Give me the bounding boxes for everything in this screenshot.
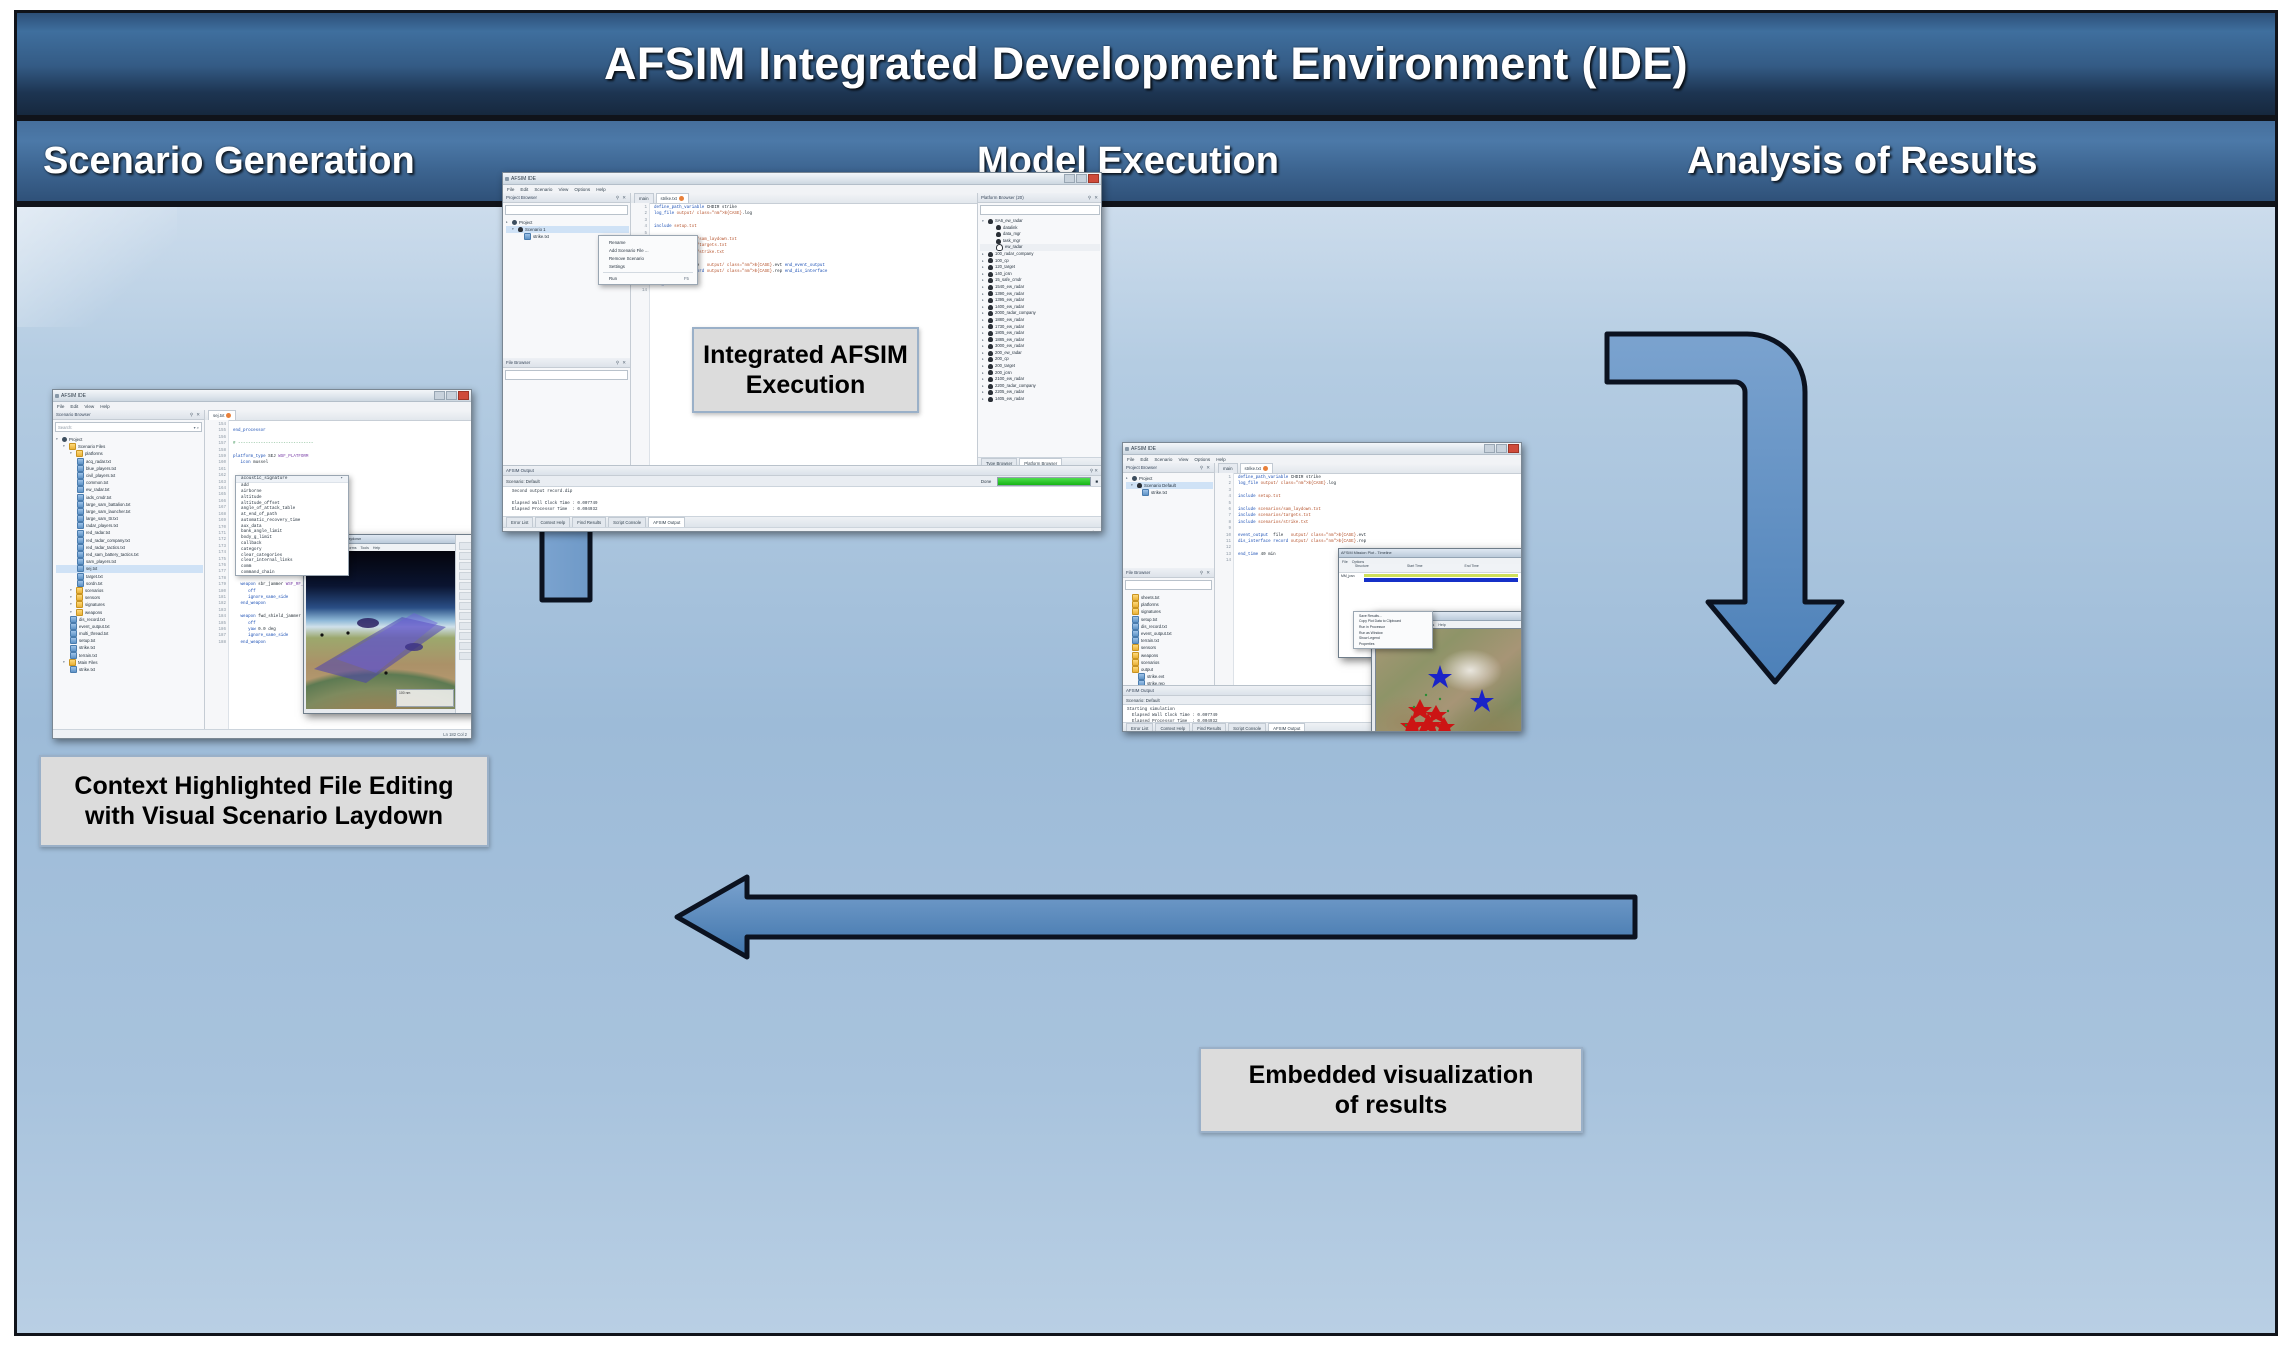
tree-item[interactable]: sordn.txt bbox=[56, 580, 203, 587]
panel-field[interactable] bbox=[459, 562, 472, 570]
panel-field[interactable] bbox=[459, 592, 472, 600]
platform-list-item[interactable]: ▸2200_radar_company bbox=[980, 383, 1100, 390]
window-titlebar[interactable]: AFSIM IDE bbox=[53, 390, 471, 402]
tree-item-scenario[interactable]: ▾ Scenario 1 bbox=[506, 226, 629, 233]
project-browser-header: Project Browser ⚲ ✕ bbox=[503, 193, 630, 203]
page-title: AFSIM Integrated Development Environment… bbox=[604, 38, 1688, 90]
tree-item[interactable]: setup.txt bbox=[56, 637, 203, 644]
dock-title: File Browser bbox=[1126, 570, 1150, 575]
tree-item[interactable]: sam_players.txt bbox=[56, 558, 203, 565]
progress-label: Done bbox=[981, 479, 992, 484]
minimize-button[interactable] bbox=[1484, 444, 1495, 453]
minimize-button[interactable] bbox=[1064, 174, 1075, 183]
platform-label: 2200_radar_company bbox=[995, 383, 1036, 390]
scenario-generation-window[interactable]: AFSIM IDE File Edit View Help Scenario B… bbox=[52, 389, 472, 739]
platform-list-item[interactable]: ▸1400_ew_radar bbox=[980, 304, 1100, 311]
menu-scenario[interactable]: Scenario bbox=[1154, 457, 1172, 462]
tree-item[interactable]: ▾signatures bbox=[56, 601, 203, 608]
tree-item-strike-file[interactable]: strike.txt bbox=[1126, 489, 1213, 496]
ctx-properties[interactable]: Properties bbox=[1354, 641, 1432, 647]
tree-item[interactable]: event_output.txt bbox=[56, 623, 203, 630]
expander-icon[interactable]: ▾ bbox=[56, 436, 60, 443]
menu-file[interactable]: File bbox=[57, 404, 64, 409]
menu-edit[interactable]: Edit bbox=[1140, 457, 1148, 462]
tree-item-label: strike.evt bbox=[1147, 673, 1164, 680]
tree-item-label: Main Files bbox=[78, 659, 98, 666]
panel-field[interactable] bbox=[459, 622, 472, 630]
pin-icon[interactable]: ⚲ ✕ bbox=[1200, 465, 1211, 471]
menu-edit[interactable]: Edit bbox=[70, 404, 78, 409]
tree-item-label: Scenario Default bbox=[1144, 482, 1176, 489]
tree-item[interactable]: strike.evt bbox=[1126, 673, 1213, 680]
close-button[interactable] bbox=[1088, 174, 1099, 183]
context-menu-item-remove-scenario[interactable]: Remove Scenario bbox=[599, 254, 697, 262]
close-button[interactable] bbox=[1508, 444, 1519, 453]
tree-item[interactable]: ew_radar.txt bbox=[56, 486, 203, 493]
line-number: 14 bbox=[631, 288, 647, 294]
platform-list-item[interactable]: ▸100_radar_company bbox=[980, 251, 1100, 258]
callout-embedded-visualization: Embedded visualization of results bbox=[1199, 1047, 1583, 1133]
platform-list-item[interactable]: ▸140_jcsn bbox=[980, 271, 1100, 278]
scenario-icon bbox=[518, 227, 523, 232]
menu-options[interactable]: Options bbox=[1194, 457, 1210, 462]
file-icon bbox=[70, 645, 77, 652]
expander-icon[interactable]: ▸ bbox=[982, 337, 986, 344]
platform-list-item[interactable]: ▸3000_ew_radar bbox=[980, 343, 1100, 350]
platform-icon bbox=[988, 331, 993, 336]
tree-item[interactable]: terrain.txt bbox=[56, 652, 203, 659]
tree-item[interactable]: strike.txt bbox=[56, 644, 203, 651]
tree-item[interactable]: ▾Project bbox=[56, 436, 203, 443]
tree-item[interactable]: setup.txt bbox=[1126, 616, 1213, 623]
expander-icon[interactable]: ▸ bbox=[982, 264, 986, 271]
file-filter-input[interactable] bbox=[1125, 580, 1212, 590]
tree-item[interactable]: sheets.txt bbox=[1126, 594, 1213, 601]
menu-tools[interactable]: Tools bbox=[361, 546, 369, 550]
tree-item-project[interactable]: ▸ Project bbox=[506, 219, 629, 226]
file-icon bbox=[77, 465, 84, 472]
window-titlebar[interactable]: AFSIM IDE bbox=[503, 173, 1101, 185]
platform-list-item[interactable]: ew_radar bbox=[980, 244, 1100, 251]
tree-item-label: acq_radar.txt bbox=[86, 458, 111, 465]
window-buttons[interactable] bbox=[1064, 174, 1099, 183]
project-filter-input[interactable] bbox=[505, 205, 628, 215]
panel-field[interactable] bbox=[459, 612, 472, 620]
expander-icon[interactable]: ▸ bbox=[982, 304, 986, 311]
dock-title: File Browser bbox=[506, 360, 530, 365]
tree-item-label: Scenario Files bbox=[78, 443, 105, 450]
folder-icon bbox=[1132, 644, 1139, 651]
plot-context-menu[interactable]: Save Results... Copy Plot Data to Clipbo… bbox=[1353, 611, 1433, 649]
platform-list-item[interactable]: ▸1730_ew_radar bbox=[980, 324, 1100, 331]
platform-list-item[interactable]: ▸1805_ew_radar bbox=[980, 330, 1100, 337]
scenario-browser-dock: Scenario Browser ⚲ ✕ Search: ▾ ⌕ ▾Projec… bbox=[53, 410, 205, 729]
expander-icon[interactable]: ▸ bbox=[982, 317, 986, 324]
tree-item[interactable]: large_sam_battalion.txt bbox=[56, 501, 203, 508]
file-icon bbox=[77, 494, 84, 501]
menu-view[interactable]: View bbox=[558, 187, 568, 192]
tree-item[interactable]: weapons bbox=[1126, 652, 1213, 659]
tree-item[interactable]: platforms bbox=[1126, 601, 1213, 608]
platform-label: 2205_ew_radar bbox=[995, 389, 1024, 396]
analysis-of-results-window[interactable]: AFSIM IDE File Edit Scenario View Option… bbox=[1122, 442, 1522, 732]
dock-title: Project Browser bbox=[1126, 465, 1157, 470]
menu-scenario[interactable]: Scenario bbox=[534, 187, 552, 192]
file-icon bbox=[1132, 630, 1139, 637]
platform-icon bbox=[988, 258, 993, 263]
tree-item[interactable]: scenarios bbox=[1126, 659, 1213, 666]
output-tabs[interactable]: Error ListContext HelpFind ResultsScript… bbox=[503, 516, 1101, 527]
expander-icon[interactable]: ▸ bbox=[982, 363, 986, 370]
tab-label: main bbox=[639, 196, 649, 201]
output-title: AFSIM Output bbox=[506, 468, 534, 473]
expander-icon[interactable]: ▾ bbox=[70, 587, 74, 594]
file-browser-dock: File Browser ⚲ ✕ sheets.txtplatformssign… bbox=[1123, 568, 1215, 688]
editor-tab-main[interactable]: main bbox=[634, 193, 654, 203]
tree-item-project[interactable]: ▸ Project bbox=[1126, 475, 1213, 482]
tree-item[interactable]: blue_players.txt bbox=[56, 465, 203, 472]
menu-help[interactable]: Help bbox=[596, 187, 605, 192]
chevron-down-icon[interactable]: ▾ bbox=[340, 476, 343, 481]
platform-filter-input[interactable] bbox=[980, 205, 1100, 215]
tree-item[interactable]: ▾platforms bbox=[56, 450, 203, 457]
file-filter-input[interactable] bbox=[505, 370, 628, 380]
tree-item[interactable]: ▾weapons bbox=[56, 609, 203, 616]
output-header: AFSIM Output ⚲ ✕ bbox=[503, 466, 1101, 476]
tree-item[interactable]: target.txt bbox=[56, 573, 203, 580]
tree-item[interactable]: large_sam_ttr.txt bbox=[56, 515, 203, 522]
unsaved-indicator-icon bbox=[679, 196, 684, 201]
tree-item-label: radar_players.txt bbox=[86, 522, 118, 529]
platform-list-item[interactable]: ▸200_target bbox=[980, 363, 1100, 370]
window-titlebar[interactable]: AFSIM IDE bbox=[1123, 443, 1521, 455]
autocomplete-popup[interactable]: acoustic_signature ▾ addairbornealtitude… bbox=[235, 475, 349, 576]
expander-icon[interactable]: ▸ bbox=[982, 277, 986, 284]
panel-field[interactable] bbox=[459, 632, 472, 640]
tree-item-label: strike.txt bbox=[79, 666, 95, 673]
panel-field[interactable] bbox=[459, 542, 472, 550]
autocomplete-item[interactable]: command_chain bbox=[236, 570, 348, 576]
tree-item[interactable]: signatures bbox=[1126, 608, 1213, 615]
platform-label: 120_target bbox=[995, 264, 1015, 271]
platform-list[interactable]: ▾SA6_ew_radardatalinkdata_mgrtask_mgrew_… bbox=[978, 217, 1102, 404]
menu-help[interactable]: Help bbox=[373, 546, 380, 550]
platform-list-item[interactable]: ▸2100_ew_radar bbox=[980, 376, 1100, 383]
expander-icon[interactable]: ▸ bbox=[982, 251, 986, 258]
tree-item-scenario-default[interactable]: ▾ Scenario Default bbox=[1126, 482, 1213, 489]
tree-item[interactable]: acq_radar.txt bbox=[56, 458, 203, 465]
tree-item-label: sensors bbox=[85, 594, 100, 601]
file-icon bbox=[70, 637, 77, 644]
file-icon bbox=[77, 458, 84, 465]
platform-browser-header: Platform Browser (20) ⚲ ✕ bbox=[978, 193, 1102, 203]
plot-titlebar[interactable]: AFSIM Mission Plot - Timeline bbox=[1339, 549, 1522, 558]
platform-icon bbox=[988, 351, 993, 356]
timeline-row-label: MM_jcsn bbox=[1341, 574, 1355, 578]
autocomplete-filter[interactable]: acoustic_signature ▾ bbox=[236, 476, 348, 483]
tree-item[interactable]: ▾scenarios bbox=[56, 587, 203, 594]
editor-tab-main[interactable]: main bbox=[1218, 463, 1238, 473]
expander-icon[interactable]: ▾ bbox=[70, 601, 74, 608]
menu-file[interactable]: File bbox=[1342, 560, 1348, 564]
platform-icon bbox=[988, 272, 993, 277]
tree-item[interactable]: ▾sensors bbox=[56, 594, 203, 601]
tree-item[interactable]: ▾Main Files bbox=[56, 659, 203, 666]
expander-icon[interactable]: ▾ bbox=[1131, 482, 1135, 489]
platform-label: 2000_radar_company bbox=[995, 310, 1036, 317]
stop-icon[interactable]: ■ bbox=[1095, 479, 1098, 484]
output-tab[interactable]: Script Console bbox=[1228, 723, 1266, 732]
viewer-side-panel[interactable] bbox=[455, 535, 472, 713]
file-browser-header: File Browser ⚲ ✕ bbox=[1123, 568, 1214, 578]
menu-help[interactable]: Help bbox=[1216, 457, 1225, 462]
context-menu-item-label: Run bbox=[609, 276, 617, 281]
platform-list-item[interactable]: data_mgr bbox=[980, 231, 1100, 238]
tree-item[interactable]: sej.txt bbox=[56, 565, 203, 572]
tree-item-label: scenarios bbox=[1141, 659, 1159, 666]
expander-icon[interactable]: ▾ bbox=[63, 659, 67, 666]
menu-view[interactable]: View bbox=[1178, 457, 1188, 462]
line-number: 14 bbox=[1215, 558, 1231, 564]
tree-item-label: terrain.txt bbox=[79, 652, 97, 659]
tree-item[interactable]: multi_thread.txt bbox=[56, 630, 203, 637]
panel-field[interactable] bbox=[459, 602, 472, 610]
panel-field[interactable] bbox=[459, 572, 472, 580]
platform-list-item[interactable]: ▾SA6_ew_radar bbox=[980, 218, 1100, 225]
expander-icon[interactable]: ▾ bbox=[512, 226, 516, 233]
platform-list-item[interactable]: ▸15_safe_cmdr bbox=[980, 277, 1100, 284]
expander-icon[interactable]: ▾ bbox=[70, 450, 74, 457]
platform-list-item[interactable]: ▸100_cp bbox=[980, 258, 1100, 265]
menu-file[interactable]: File bbox=[507, 187, 514, 192]
expander-icon[interactable]: ▸ bbox=[982, 291, 986, 298]
output-tab[interactable]: Error List bbox=[1126, 723, 1153, 732]
context-menu-item-settings[interactable]: Settings bbox=[599, 262, 697, 270]
scenario-context-menu[interactable]: Rename Add Scenario File ... Remove Scen… bbox=[598, 235, 698, 285]
tree-item[interactable]: red_radar_tactics.txt bbox=[56, 544, 203, 551]
maximize-button[interactable] bbox=[1496, 444, 1507, 453]
platform-icon bbox=[988, 364, 993, 369]
scenario-search-input[interactable]: Search: ▾ ⌕ bbox=[55, 422, 202, 432]
file-tree[interactable]: sheets.txtplatformssignaturessetup.txtdi… bbox=[1123, 592, 1214, 690]
panel-field[interactable] bbox=[459, 582, 472, 590]
tree-item[interactable]: common.txt bbox=[56, 479, 203, 486]
timeline-row[interactable]: MM_jcsn bbox=[1339, 573, 1522, 587]
output-tab[interactable]: Context Help bbox=[535, 517, 570, 527]
editor-tab-strike[interactable]: strike.txt bbox=[1240, 463, 1273, 473]
tree-item[interactable]: radar_players.txt bbox=[56, 522, 203, 529]
tree-item[interactable]: output bbox=[1126, 666, 1213, 673]
tree-item[interactable]: event_output.txt bbox=[1126, 630, 1213, 637]
tree-item-label: Project bbox=[519, 219, 532, 226]
pin-icon[interactable]: ⚲ ✕ bbox=[1088, 195, 1099, 201]
expander-icon[interactable]: ▸ bbox=[982, 389, 986, 396]
expander-icon[interactable]: ▸ bbox=[982, 271, 986, 278]
platform-label: 1730_ew_radar bbox=[995, 324, 1024, 331]
output-tab[interactable]: Find Results bbox=[1192, 723, 1226, 732]
menu-help[interactable]: Help bbox=[1438, 623, 1445, 627]
expander-icon[interactable]: ▾ bbox=[982, 218, 986, 225]
expander-icon[interactable]: ▸ bbox=[982, 330, 986, 337]
output-scenario-label: Scenario: Default bbox=[1126, 698, 1160, 703]
expander-icon[interactable]: ▸ bbox=[982, 383, 986, 390]
expander-icon[interactable]: ▸ bbox=[506, 219, 510, 226]
platform-icon bbox=[988, 324, 993, 329]
folder-icon bbox=[1132, 659, 1139, 666]
platform-list-item[interactable]: ▸1390_ew_radar bbox=[980, 291, 1100, 298]
tree-item[interactable]: red_radar_company.txt bbox=[56, 537, 203, 544]
unsaved-indicator-icon bbox=[1263, 466, 1268, 471]
platform-list-item[interactable]: datalink bbox=[980, 225, 1100, 232]
folder-icon bbox=[1132, 652, 1139, 659]
output-tab[interactable]: AFSIM Output bbox=[1268, 723, 1305, 732]
tree-item[interactable]: large_sam_launcher.txt bbox=[56, 508, 203, 515]
expander-icon[interactable]: ▸ bbox=[982, 284, 986, 291]
tree-item-label: Project bbox=[1139, 475, 1152, 482]
close-button[interactable] bbox=[458, 391, 469, 400]
expander-icon[interactable]: ▾ bbox=[63, 443, 67, 450]
tree-item[interactable]: red_sam_battery_tactics.txt bbox=[56, 551, 203, 558]
pin-icon[interactable]: ⚲ ✕ bbox=[1090, 468, 1098, 474]
platform-label: 1405_ew_radar bbox=[995, 396, 1024, 403]
expander-icon[interactable]: ▾ bbox=[70, 594, 74, 601]
file-icon bbox=[77, 515, 84, 522]
expander-icon[interactable]: ▸ bbox=[982, 350, 986, 357]
folder-icon bbox=[76, 609, 83, 616]
search-icon[interactable]: ▾ ⌕ bbox=[194, 425, 201, 430]
platform-list-item[interactable]: task_mgr bbox=[980, 238, 1100, 245]
menu-help[interactable]: Help bbox=[100, 404, 109, 409]
expander-icon[interactable]: ▸ bbox=[982, 343, 986, 350]
minimize-button[interactable] bbox=[434, 391, 445, 400]
tree-item[interactable]: ▾Scenario Files bbox=[56, 443, 203, 450]
platform-label: SA6_ew_radar bbox=[995, 218, 1023, 225]
platform-label: 1540_ew_radar bbox=[995, 284, 1024, 291]
context-menu-item-add-scenario-file[interactable]: Add Scenario File ... bbox=[599, 246, 697, 254]
pin-icon[interactable]: ⚲ ✕ bbox=[190, 412, 201, 418]
context-menu-item-rename[interactable]: Rename bbox=[599, 238, 697, 246]
tree-item[interactable]: civil_players.txt bbox=[56, 472, 203, 479]
output-tab[interactable]: Script Console bbox=[608, 517, 646, 527]
output-console[interactable]: Second output record.dip Elapsed Wall Cl… bbox=[503, 487, 1101, 516]
editor-tab-sej[interactable]: sej.txt bbox=[208, 410, 236, 420]
expander-icon[interactable]: ▸ bbox=[982, 258, 986, 265]
platform-label: 15_safe_cmdr bbox=[995, 277, 1022, 284]
platform-list-item[interactable]: ▸1540_ew_radar bbox=[980, 284, 1100, 291]
expander-icon[interactable]: ▸ bbox=[982, 324, 986, 331]
file-icon bbox=[77, 573, 84, 580]
file-icon bbox=[77, 580, 84, 587]
platform-icon bbox=[988, 278, 993, 283]
maximize-button[interactable] bbox=[446, 391, 457, 400]
expander-icon[interactable]: ▾ bbox=[70, 609, 74, 616]
menu-edit[interactable]: Edit bbox=[520, 187, 528, 192]
expander-icon[interactable]: ▸ bbox=[982, 396, 986, 403]
line-number: 188 bbox=[205, 640, 226, 646]
file-icon bbox=[77, 472, 84, 479]
platform-list-item[interactable]: ▸1880_ew_radar bbox=[980, 317, 1100, 324]
editor-tab-strike[interactable]: strike.txt bbox=[656, 193, 689, 203]
platform-label: 100_radar_company bbox=[995, 251, 1033, 258]
expander-icon[interactable]: ▸ bbox=[1126, 475, 1130, 482]
pin-icon[interactable]: ⚲ ✕ bbox=[616, 360, 627, 366]
tree-item[interactable]: dis_record.txt bbox=[1126, 623, 1213, 630]
output-tab[interactable]: Error List bbox=[506, 517, 533, 527]
context-menu-item-run[interactable]: Run F5 bbox=[599, 274, 697, 282]
tree-item[interactable]: iads_cmdr.txt bbox=[56, 494, 203, 501]
tree-item-label: common.txt bbox=[86, 479, 108, 486]
output-tab[interactable]: AFSIM Output bbox=[648, 517, 685, 527]
platform-icon bbox=[988, 252, 993, 257]
menu-file[interactable]: File bbox=[1127, 457, 1134, 462]
tree-item[interactable]: red_radar.txt bbox=[56, 529, 203, 536]
platform-list-item[interactable]: ▸200_jcsn bbox=[980, 370, 1100, 377]
scenario-icon bbox=[1137, 483, 1142, 488]
cursor-position-label: Ln 182 Col 2 bbox=[443, 732, 467, 737]
platform-list-item[interactable]: ▸1885_ew_radar bbox=[980, 337, 1100, 344]
tree-item[interactable]: sensors bbox=[1126, 644, 1213, 651]
tree-item[interactable]: dis_record.txt bbox=[56, 616, 203, 623]
tree-item-label: Scenario 1 bbox=[525, 226, 546, 233]
platform-list-item[interactable]: ▸120_target bbox=[980, 264, 1100, 271]
output-tab[interactable]: Find Results bbox=[572, 517, 606, 527]
file-browser-dock: File Browser ⚲ ✕ bbox=[503, 358, 631, 468]
pin-icon[interactable]: ⚲ ✕ bbox=[616, 195, 627, 201]
output-scenario-row: Scenario: Default Done ■ bbox=[503, 476, 1101, 487]
expander-icon[interactable]: ▸ bbox=[982, 297, 986, 304]
menu-options[interactable]: Options bbox=[574, 187, 590, 192]
platform-list-item[interactable]: ▸2000_radar_company bbox=[980, 310, 1100, 317]
file-icon bbox=[77, 558, 84, 565]
platform-list-item[interactable]: ▸2205_ew_radar bbox=[980, 389, 1100, 396]
window-buttons[interactable] bbox=[1484, 444, 1519, 453]
output-tab[interactable]: Context Help bbox=[1155, 723, 1190, 732]
window-buttons[interactable] bbox=[434, 391, 469, 400]
expander-icon[interactable]: ▸ bbox=[982, 310, 986, 317]
pin-icon[interactable]: ⚲ ✕ bbox=[1200, 570, 1211, 576]
platform-list-item[interactable]: ▸200_ew_radar bbox=[980, 350, 1100, 357]
expander-icon[interactable]: ▸ bbox=[982, 356, 986, 363]
panel-field[interactable] bbox=[459, 652, 472, 660]
expander-icon[interactable]: ▸ bbox=[982, 376, 986, 383]
tree-item[interactable]: terrain.txt bbox=[1126, 637, 1213, 644]
platform-list-item[interactable]: ▸200_cp bbox=[980, 356, 1100, 363]
timeline-bar-secondary bbox=[1364, 574, 1518, 577]
code-line[interactable] bbox=[654, 288, 977, 294]
file-icon bbox=[70, 630, 77, 637]
platform-label: 1885_ew_radar bbox=[995, 337, 1024, 344]
platform-list-item[interactable]: ▸1395_ew_radar bbox=[980, 297, 1100, 304]
maximize-button[interactable] bbox=[1076, 174, 1087, 183]
panel-field[interactable] bbox=[459, 642, 472, 650]
scenario-tree[interactable]: ▾Project▾Scenario Files▾platformsacq_rad… bbox=[53, 434, 204, 736]
platform-list-item[interactable]: ▸1405_ew_radar bbox=[980, 396, 1100, 403]
callout-text-line2: with Visual Scenario Laydown bbox=[85, 801, 443, 832]
menu-view[interactable]: View bbox=[84, 404, 94, 409]
file-icon bbox=[77, 508, 84, 515]
callout-text-line1: Embedded visualization bbox=[1249, 1060, 1534, 1091]
platform-icon bbox=[988, 219, 993, 224]
tree-item[interactable]: strike.txt bbox=[56, 666, 203, 673]
panel-field[interactable] bbox=[459, 552, 472, 560]
tree-item-label: ew_radar.txt bbox=[86, 486, 109, 493]
platform-icon bbox=[988, 265, 993, 270]
project-tree[interactable]: ▸ Project ▾ Scenario Default strike.txt bbox=[1123, 473, 1214, 497]
arrow-analysis-to-scenario bbox=[677, 867, 1637, 967]
menu-options[interactable]: Options bbox=[1352, 560, 1364, 564]
expander-icon[interactable]: ▸ bbox=[982, 370, 986, 377]
tree-item-label: sensors bbox=[1141, 644, 1156, 651]
